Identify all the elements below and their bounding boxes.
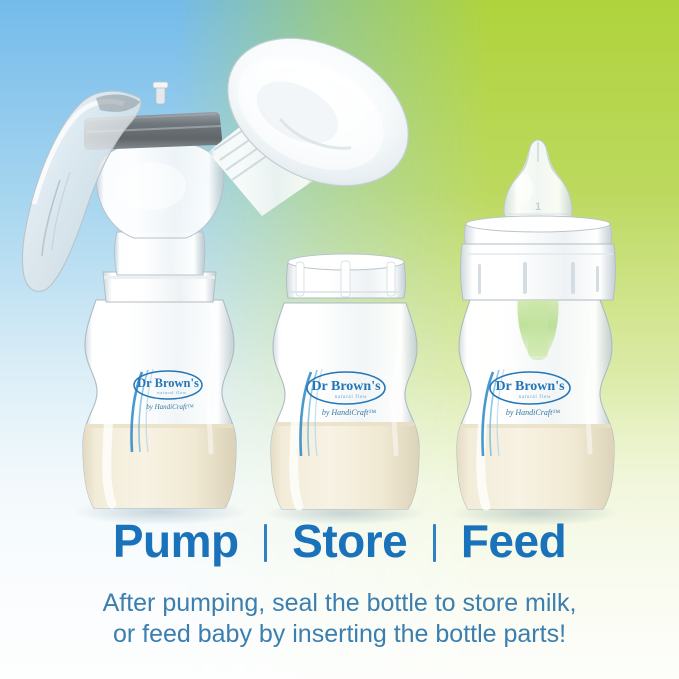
feeding-bottle-body	[452, 296, 622, 514]
headline: Pump Store Feed	[0, 516, 679, 566]
bottle-nipple: 1	[504, 140, 572, 223]
product-illustration: Dr Brown's natural flow by HandiCraft™	[0, 0, 679, 679]
svg-text:by HandiCraft™: by HandiCraft™	[506, 408, 560, 417]
bottle-collar	[461, 244, 616, 300]
subtext-line-1: After pumping, seal the bottle to store …	[0, 588, 679, 619]
product-feeding-bottle: 1	[452, 140, 622, 514]
svg-text:by HandiCraft™: by HandiCraft™	[146, 403, 194, 411]
svg-text:Dr Brown's: Dr Brown's	[311, 379, 381, 394]
product-marketing-image: Dr Brown's natural flow by HandiCraft™	[0, 0, 679, 679]
storage-cap	[287, 254, 406, 298]
svg-text:Dr Brown's: Dr Brown's	[495, 379, 565, 394]
vent-reservoir	[528, 300, 548, 360]
cap-rib	[296, 262, 304, 296]
svg-text:natural flow: natural flow	[157, 390, 187, 395]
pump-vent-nub	[153, 82, 168, 104]
nipple-level-marking: 1	[535, 201, 541, 213]
collar-slot	[478, 264, 481, 294]
svg-text:natural flow: natural flow	[335, 395, 368, 400]
headline-word-store: Store	[292, 516, 407, 566]
collar-slot	[571, 262, 575, 294]
headline-separator	[264, 524, 267, 562]
collar-slot	[596, 266, 599, 292]
headline-word-feed: Feed	[461, 516, 566, 566]
svg-text:by HandiCraft™: by HandiCraft™	[322, 408, 376, 417]
subtext-line-2: or feed baby by inserting the bottle par…	[0, 619, 679, 650]
cap-rib	[387, 262, 395, 296]
product-storage-bottle: Dr Brown's natural flow by HandiCraft™	[266, 254, 426, 514]
headline-separator	[433, 524, 436, 562]
svg-text:Dr Brown's: Dr Brown's	[137, 376, 199, 390]
headline-word-pump: Pump	[113, 516, 239, 566]
collar-slot	[523, 262, 527, 294]
pump-funnel-flange	[202, 9, 433, 216]
svg-text:natural flow: natural flow	[519, 395, 552, 400]
